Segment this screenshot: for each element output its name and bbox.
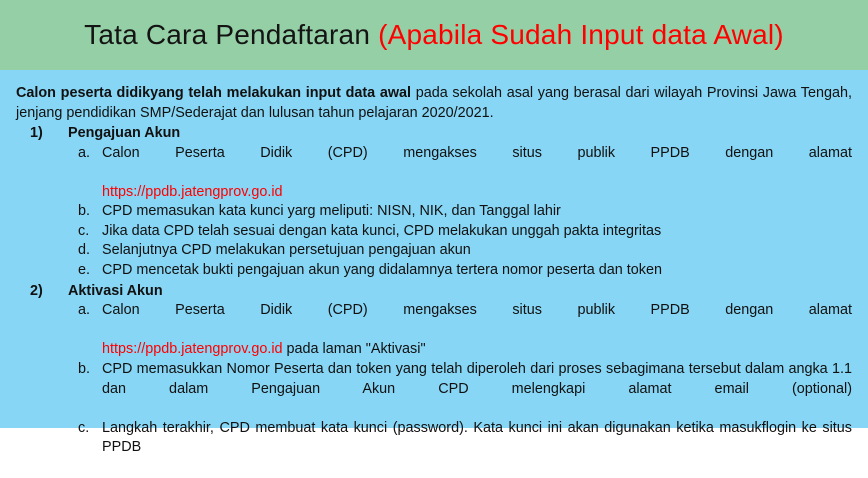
ppdb-url-link[interactable]: https://ppdb.jatengprov.go.id <box>102 341 283 357</box>
item-text: Jika data CPD telah sesuai dengan kata k… <box>102 222 852 242</box>
item-text: Selanjutnya CPD melakukan persetujuan pe… <box>102 241 852 261</box>
page-title: Tata Cara Pendaftaran (Apabila Sudah Inp… <box>84 19 784 51</box>
list-item: e. CPD mencetak bukti pengajuan akun yan… <box>16 261 852 281</box>
header-band: Tata Cara Pendaftaran (Apabila Sudah Inp… <box>0 0 868 70</box>
item-text: CPD memasukan kata kunci yarg meliputi: … <box>102 202 852 222</box>
section-2-heading-row: 2) Aktivasi Akun <box>16 282 852 302</box>
item-marker: a. <box>78 301 90 321</box>
section-2-heading: Aktivasi Akun <box>68 283 163 299</box>
item-text: CPD mencetak bukti pengajuan akun yang d… <box>102 261 852 281</box>
page-title-parenthetical: (Apabila Sudah Input data Awal) <box>378 19 784 50</box>
item-marker: e. <box>78 261 90 281</box>
slide-root: Tata Cara Pendaftaran (Apabila Sudah Inp… <box>0 0 868 428</box>
item-text: CPD memasukkan Nomor Peserta dan token y… <box>102 360 852 419</box>
item-url-line: https://ppdb.jatengprov.go.id pada laman… <box>102 340 852 360</box>
item-text: Calon Peserta Didik (CPD) mengakses situ… <box>102 301 852 340</box>
item-marker: c. <box>78 222 89 242</box>
list-item: c. Jika data CPD telah sesuai dengan kat… <box>16 222 852 242</box>
intro-paragraph: Calon peserta didikyang telah melakukan … <box>16 84 852 123</box>
item-marker: b. <box>78 360 90 380</box>
section-1-heading: Pengajuan Akun <box>68 125 180 141</box>
list-item: b. CPD memasukkan Nomor Peserta dan toke… <box>16 360 852 419</box>
item-marker: b. <box>78 202 90 222</box>
ppdb-url-link[interactable]: https://ppdb.jatengprov.go.id <box>102 184 283 200</box>
item-marker: a. <box>78 144 90 164</box>
section-1-heading-row: 1) Pengajuan Akun <box>16 124 852 144</box>
list-item: a. Calon Peserta Didik (CPD) mengakses s… <box>16 144 852 203</box>
item-marker: c. <box>78 419 89 439</box>
list-item: b. CPD memasukan kata kunci yarg meliput… <box>16 202 852 222</box>
item-marker: d. <box>78 241 90 261</box>
item-text: Calon Peserta Didik (CPD) mengakses situ… <box>102 144 852 183</box>
page-title-main: Tata Cara Pendaftaran <box>84 19 378 50</box>
section-2-marker: 2) <box>30 282 43 302</box>
item-url-suffix: pada laman "Aktivasi" <box>283 341 426 357</box>
list-item: d. Selanjutnya CPD melakukan persetujuan… <box>16 241 852 261</box>
content-panel: Calon peserta didikyang telah melakukan … <box>0 70 868 428</box>
item-url-line: https://ppdb.jatengprov.go.id <box>102 183 852 203</box>
section-1-marker: 1) <box>30 124 43 144</box>
list-item: a. Calon Peserta Didik (CPD) mengakses s… <box>16 301 852 360</box>
intro-bold-lead: Calon peserta didikyang telah melakukan … <box>16 85 411 101</box>
